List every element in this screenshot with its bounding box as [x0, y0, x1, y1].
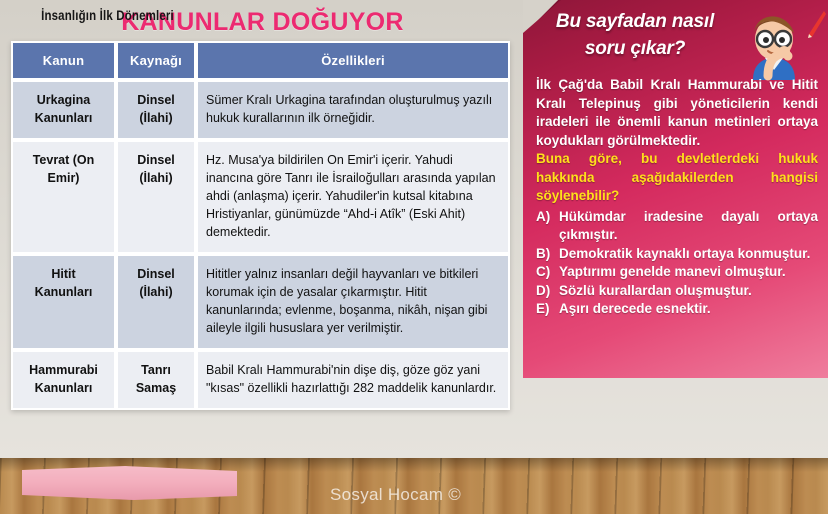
- option-a-text: Hükümdar iradesine dayalı ortaya çıkmışt…: [559, 208, 818, 245]
- cell-law-desc: Babil Kralı Hammurabi'nin dişe diş, göze…: [196, 350, 510, 410]
- table-body: Urkagina Kanunları Dinsel (İlahi) Sümer …: [11, 80, 510, 410]
- cell-law-name: Hammurabi Kanunları: [11, 350, 116, 410]
- option-b[interactable]: B) Demokratik kaynaklı ortaya konmuştur.: [536, 245, 818, 264]
- table-row: Hammurabi Kanunları Tanrı Samaş Babil Kr…: [11, 350, 510, 410]
- heading-line-2: soru çıkar?: [537, 35, 733, 62]
- column-header-kanun: Kanun: [11, 41, 116, 80]
- laws-table: Kanun Kaynağı Özellikleri Urkagina Kanun…: [11, 41, 510, 410]
- option-e-letter: E): [536, 300, 553, 319]
- cell-law-source: Dinsel (İlahi): [116, 80, 196, 140]
- option-a[interactable]: A) Hükümdar iradesine dayalı ortaya çıkm…: [536, 208, 818, 245]
- question-card-heading: Bu sayfadan nasıl soru çıkar?: [537, 8, 733, 62]
- cell-law-source: Dinsel (İlahi): [116, 140, 196, 254]
- cell-law-name: Hitit Kanunları: [11, 254, 116, 350]
- slide-canvas: KANUNLAR DOĞUYOR Kanun Kaynağı Özellikle…: [0, 0, 828, 514]
- column-header-kaynagi: Kaynağı: [116, 41, 196, 80]
- question-options-list: A) Hükümdar iradesine dayalı ortaya çıkm…: [536, 208, 818, 319]
- cell-law-name: Urkagina Kanunları: [11, 80, 116, 140]
- cell-law-desc: Sümer Kralı Urkagina tarafından oluşturu…: [196, 80, 510, 140]
- question-card: Bu sayfadan nasıl soru çıkar?: [523, 0, 828, 378]
- option-d[interactable]: D) Sözlü kurallardan oluşmuştur.: [536, 282, 818, 301]
- option-d-text: Sözlü kurallardan oluşmuştur.: [559, 282, 818, 301]
- question-passage: İlk Çağ'da Babil Kralı Hammurabi ve Hiti…: [536, 76, 818, 150]
- heading-line-1: Bu sayfadan nasıl: [537, 8, 733, 35]
- column-header-ozellikleri: Özellikleri: [196, 41, 510, 80]
- option-e-text: Aşırı derecede esnektir.: [559, 300, 818, 319]
- option-c[interactable]: C) Yaptırımı genelde manevi olmuştur.: [536, 263, 818, 282]
- table-row: Urkagina Kanunları Dinsel (İlahi) Sümer …: [11, 80, 510, 140]
- option-d-letter: D): [536, 282, 553, 301]
- table-row: Tevrat (On Emir) Dinsel (İlahi) Hz. Musa…: [11, 140, 510, 254]
- pencil-icon: [805, 10, 827, 40]
- watermark: Sosyal Hocam ©: [330, 485, 461, 505]
- table-header-row: Kanun Kaynağı Özellikleri: [11, 41, 510, 80]
- option-c-letter: C): [536, 263, 553, 282]
- topic-ribbon: [22, 466, 237, 500]
- topic-ribbon-label: İnsanlığın İlk Dönemleri: [19, 7, 195, 23]
- option-c-text: Yaptırımı genelde manevi olmuştur.: [559, 263, 818, 282]
- thinking-boy-icon: [735, 8, 813, 84]
- cell-law-source: Tanrı Samaş: [116, 350, 196, 410]
- question-stem: Buna göre, bu devletlerdeki hukuk hakkın…: [536, 150, 818, 206]
- cell-law-name: Tevrat (On Emir): [11, 140, 116, 254]
- table-header: Kanun Kaynağı Özellikleri: [11, 41, 510, 80]
- option-b-text: Demokratik kaynaklı ortaya konmuştur.: [559, 245, 818, 264]
- option-a-letter: A): [536, 208, 553, 227]
- cell-law-desc: Hititler yalnız insanları değil hayvanla…: [196, 254, 510, 350]
- option-e[interactable]: E) Aşırı derecede esnektir.: [536, 300, 818, 319]
- cell-law-desc: Hz. Musa'ya bildirilen On Emir'i içerir.…: [196, 140, 510, 254]
- option-b-letter: B): [536, 245, 553, 264]
- cell-law-source: Dinsel (İlahi): [116, 254, 196, 350]
- question-card-header: Bu sayfadan nasıl soru çıkar?: [523, 6, 828, 74]
- table-row: Hitit Kanunları Dinsel (İlahi) Hititler …: [11, 254, 510, 350]
- question-card-content: İlk Çağ'da Babil Kralı Hammurabi ve Hiti…: [536, 76, 818, 319]
